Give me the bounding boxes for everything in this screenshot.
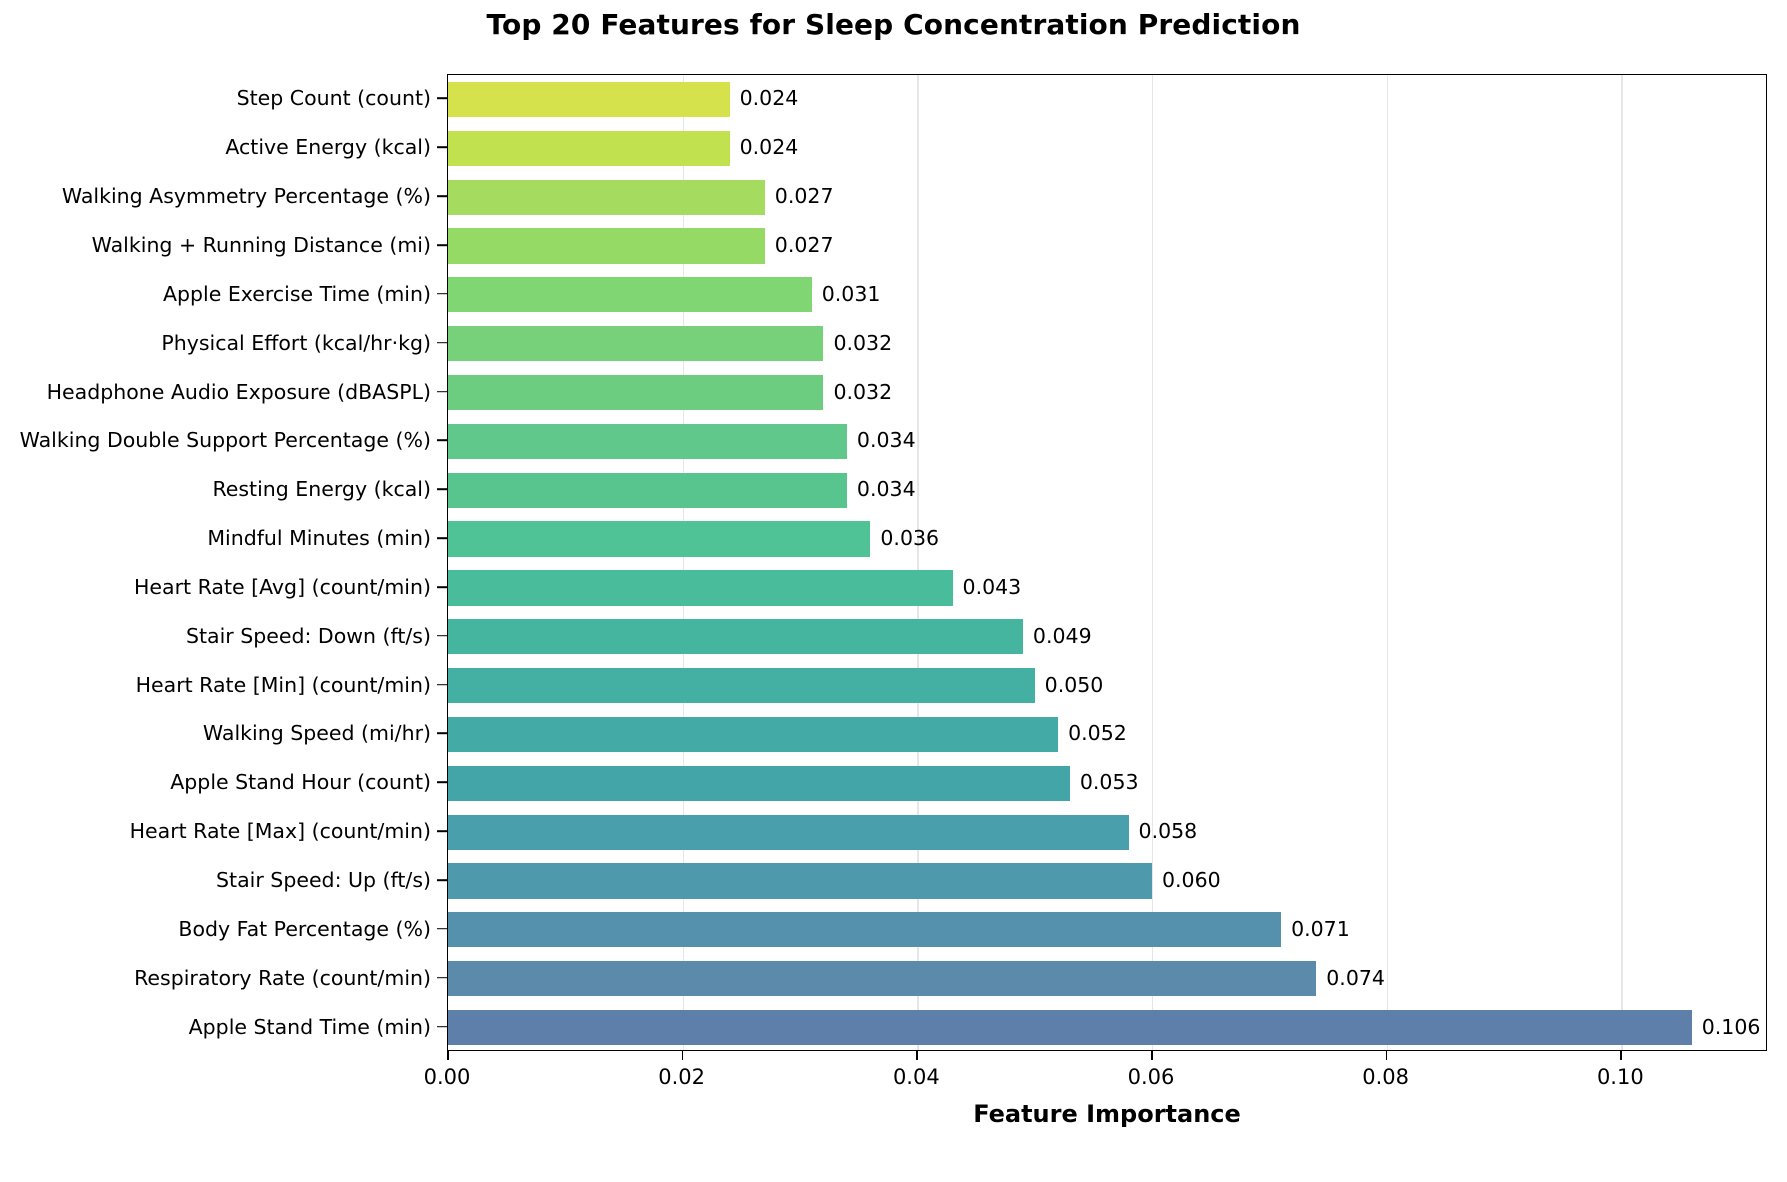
plot-area (447, 74, 1767, 1051)
y-axis-tick-label: Body Fat Percentage (%) (178, 917, 431, 941)
y-axis-tick-mark (437, 98, 447, 100)
y-axis-tick-label: Apple Stand Time (min) (189, 1015, 431, 1039)
bar-row[interactable] (448, 668, 1766, 703)
y-axis-tick-mark (437, 977, 447, 979)
y-axis-tick-label: Apple Stand Hour (count) (170, 770, 431, 794)
y-axis-tick-mark (437, 1026, 447, 1028)
chart-title: Top 20 Features for Sleep Concentration … (0, 8, 1787, 41)
y-axis-tick-mark (437, 195, 447, 197)
x-axis-tick-label: 0.10 (1597, 1065, 1644, 1089)
y-axis-tick-label: Walking + Running Distance (mi) (92, 233, 431, 257)
bar-row[interactable] (448, 863, 1766, 898)
bar-row[interactable] (448, 82, 1766, 117)
y-axis-tick-label: Respiratory Rate (count/min) (134, 966, 431, 990)
bar[interactable] (448, 863, 1152, 898)
x-axis-tick-label: 0.06 (1128, 1065, 1175, 1089)
bar[interactable] (448, 82, 730, 117)
bar[interactable] (448, 180, 765, 215)
y-axis-tick-label: Walking Speed (mi/hr) (203, 721, 431, 745)
bar-row[interactable] (448, 521, 1766, 556)
bar[interactable] (448, 961, 1316, 996)
y-axis-tick-mark (437, 342, 447, 344)
y-axis-tick-mark (437, 586, 447, 588)
bar[interactable] (448, 570, 953, 605)
y-axis-tick-mark (437, 928, 447, 930)
y-axis-tick-mark (437, 733, 447, 735)
x-axis-tick-mark (916, 1051, 918, 1060)
bar[interactable] (448, 228, 765, 263)
y-axis-tick-mark (437, 146, 447, 148)
y-axis-tick-label: Stair Speed: Up (ft/s) (216, 868, 431, 892)
y-axis-tick-label: Heart Rate [Max] (count/min) (130, 819, 431, 843)
y-axis-tick-mark (437, 782, 447, 784)
bar-row[interactable] (448, 815, 1766, 850)
y-axis-tick-mark (437, 830, 447, 832)
bar[interactable] (448, 668, 1035, 703)
x-axis-title: Feature Importance (447, 1100, 1767, 1128)
y-axis-tick-mark (437, 879, 447, 881)
x-axis-tick-label: 0.00 (424, 1065, 471, 1089)
bar-row[interactable] (448, 473, 1766, 508)
bar-row[interactable] (448, 961, 1766, 996)
x-axis-tick-mark (1151, 1051, 1153, 1060)
bar[interactable] (448, 766, 1070, 801)
x-axis-tick-label: 0.08 (1362, 1065, 1409, 1089)
bar[interactable] (448, 912, 1281, 947)
bar[interactable] (448, 424, 847, 459)
bar-row[interactable] (448, 424, 1766, 459)
y-axis-tick-label: Step Count (count) (237, 86, 431, 110)
bar[interactable] (448, 131, 730, 166)
y-axis-tick-label: Mindful Minutes (min) (207, 526, 431, 550)
x-axis-tick-label: 0.04 (893, 1065, 940, 1089)
y-axis-tick-label: Active Energy (kcal) (225, 135, 431, 159)
y-axis-tick-labels: Step Count (count)Active Energy (kcal)Wa… (0, 74, 447, 1051)
bar-row[interactable] (448, 1010, 1766, 1045)
bar-row[interactable] (448, 570, 1766, 605)
y-axis-tick-label: Apple Exercise Time (min) (163, 282, 431, 306)
y-axis-tick-label: Walking Asymmetry Percentage (%) (62, 184, 431, 208)
bar[interactable] (448, 375, 823, 410)
bar[interactable] (448, 473, 847, 508)
figure-canvas: Top 20 Features for Sleep Concentration … (0, 0, 1787, 1182)
y-axis-tick-label: Heart Rate [Avg] (count/min) (134, 575, 431, 599)
x-axis-tick-label: 0.02 (658, 1065, 705, 1089)
x-axis-tick-mark (1620, 1051, 1622, 1060)
y-axis-tick-mark (437, 635, 447, 637)
bar-row[interactable] (448, 131, 1766, 166)
x-axis-tick-mark (682, 1051, 684, 1060)
y-axis-tick-label: Walking Double Support Percentage (%) (20, 428, 431, 452)
x-axis-tick-mark (447, 1051, 449, 1060)
y-axis-tick-mark (437, 244, 447, 246)
y-axis-tick-mark (437, 488, 447, 490)
y-axis-tick-mark (437, 391, 447, 393)
bar-row[interactable] (448, 180, 1766, 215)
bar-row[interactable] (448, 717, 1766, 752)
x-axis-tick-mark (1386, 1051, 1388, 1060)
bar[interactable] (448, 521, 870, 556)
y-axis-tick-mark (437, 684, 447, 686)
bar[interactable] (448, 326, 823, 361)
bar-row[interactable] (448, 912, 1766, 947)
bar[interactable] (448, 277, 812, 312)
bar-row[interactable] (448, 619, 1766, 654)
y-axis-tick-label: Physical Effort (kcal/hr·kg) (161, 331, 431, 355)
bar[interactable] (448, 815, 1129, 850)
y-axis-tick-label: Stair Speed: Down (ft/s) (186, 624, 431, 648)
y-axis-tick-label: Heart Rate [Min] (count/min) (136, 673, 431, 697)
bar[interactable] (448, 717, 1058, 752)
bar[interactable] (448, 1010, 1692, 1045)
y-axis-tick-mark (437, 293, 447, 295)
bar-row[interactable] (448, 228, 1766, 263)
bar-row[interactable] (448, 277, 1766, 312)
bar-row[interactable] (448, 766, 1766, 801)
y-axis-tick-label: Resting Energy (kcal) (212, 477, 431, 501)
y-axis-tick-mark (437, 440, 447, 442)
bars-layer (448, 75, 1766, 1050)
bar-row[interactable] (448, 326, 1766, 361)
y-axis-tick-label: Headphone Audio Exposure (dBASPL) (47, 380, 431, 404)
bar[interactable] (448, 619, 1023, 654)
x-axis-tick-labels: 0.000.020.040.060.080.10 (447, 1051, 1767, 1095)
y-axis-tick-mark (437, 537, 447, 539)
bar-row[interactable] (448, 375, 1766, 410)
